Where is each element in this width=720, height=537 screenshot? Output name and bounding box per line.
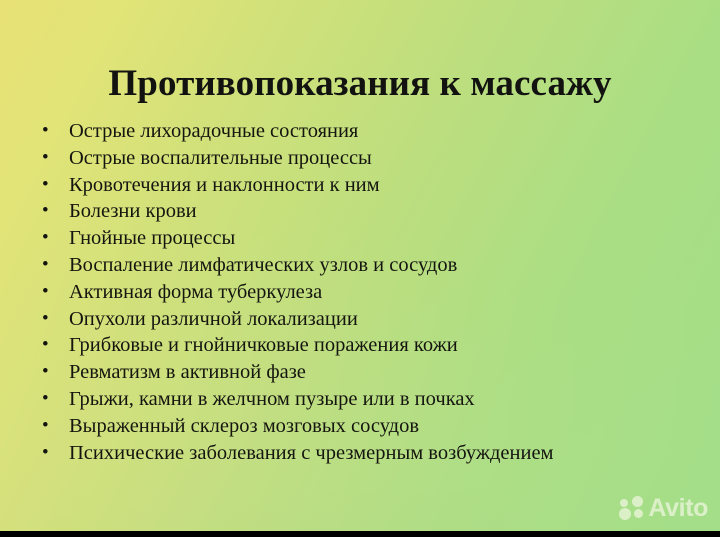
bullet-icon: • [42, 172, 56, 199]
bullet-icon: • [42, 413, 56, 440]
list-item: • Ревматизм в активной фазе [40, 359, 690, 386]
list-item-label: Грибковые и гнойничковые поражения кожи [69, 332, 458, 359]
list-item-label: Ревматизм в активной фазе [69, 359, 306, 386]
list-item: • Грыжи, камни в желчном пузыре или в по… [40, 386, 690, 413]
bullet-icon: • [42, 198, 56, 225]
list-item: • Кровотечения и наклонности к ним [40, 172, 690, 199]
bullet-icon: • [42, 118, 56, 145]
bullet-icon: • [42, 252, 56, 279]
list-item: • Воспаление лимфатических узлов и сосуд… [40, 252, 690, 279]
list-item: • Болезни крови [40, 198, 690, 225]
list-item-label: Кровотечения и наклонности к ним [69, 172, 380, 199]
list-item: • Активная форма туберкулеза [40, 279, 690, 306]
bullet-icon: • [42, 440, 56, 467]
list-item: • Опухоли различной локализации [40, 306, 690, 333]
list-item-label: Болезни крови [69, 198, 197, 225]
avito-logo-icon [619, 496, 647, 520]
list-item-label: Острые лихорадочные состояния [69, 118, 358, 145]
list-item: • Острые воспалительные процессы [40, 145, 690, 172]
bottom-black-bar [0, 531, 720, 537]
contraindications-list: • Острые лихорадочные состояния • Острые… [40, 118, 690, 466]
list-item: • Психические заболевания с чрезмерным в… [40, 440, 690, 467]
bullet-icon: • [42, 359, 56, 386]
list-item-label: Активная форма туберкулеза [69, 279, 322, 306]
avito-watermark: Avito [619, 493, 708, 523]
list-item-label: Выраженный склероз мозговых сосудов [69, 413, 419, 440]
list-item: • Грибковые и гнойничковые поражения кож… [40, 332, 690, 359]
presentation-slide: Противопоказания к массажу • Острые лихо… [0, 0, 720, 537]
page-title: Противопоказания к массажу [108, 63, 611, 104]
bullet-icon: • [42, 332, 56, 359]
list-item-label: Гнойные процессы [69, 225, 235, 252]
list-item: • Острые лихорадочные состояния [40, 118, 690, 145]
list-item-label: Психические заболевания с чрезмерным воз… [69, 440, 554, 467]
title-area: Противопоказания к массажу [0, 38, 720, 129]
list-item-label: Грыжи, камни в желчном пузыре или в почк… [69, 386, 475, 413]
list-item: • Гнойные процессы [40, 225, 690, 252]
bullet-icon: • [42, 306, 56, 333]
list-item-label: Воспаление лимфатических узлов и сосудов [69, 252, 457, 279]
bullet-icon: • [42, 225, 56, 252]
list-item-label: Острые воспалительные процессы [69, 145, 372, 172]
bullet-icon: • [42, 145, 56, 172]
list-item-label: Опухоли различной локализации [69, 306, 358, 333]
bullet-icon: • [42, 386, 56, 413]
list-item: • Выраженный склероз мозговых сосудов [40, 413, 690, 440]
avito-wordmark-label: Avito [648, 496, 708, 521]
bullet-icon: • [42, 279, 56, 306]
